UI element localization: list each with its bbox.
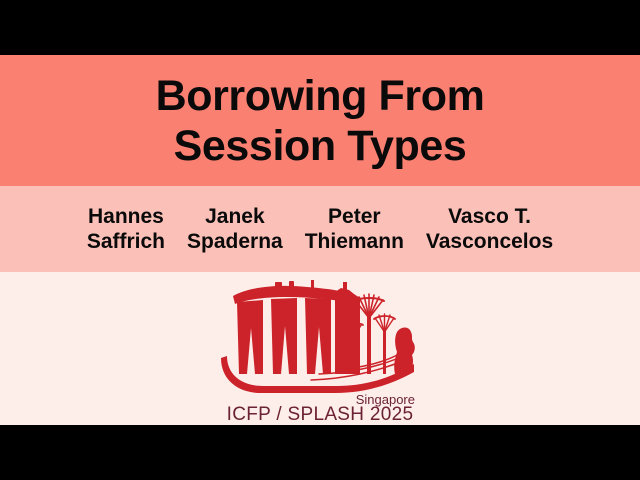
title-card-slide: Borrowing From Session Types Hannes Saff… xyxy=(0,0,640,480)
icfp-splash-singapore-logo-icon: Singapore ICFP / SPLASH 2025 xyxy=(215,278,425,420)
author-4-family-name: Vasconcelos xyxy=(426,229,553,254)
skypark-deck-detail-2 xyxy=(289,281,294,288)
title-band: Borrowing From Session Types xyxy=(0,55,640,186)
letterbox-top xyxy=(0,0,640,55)
mbs-tower-3-icon xyxy=(305,298,331,374)
author-3-given-name: Peter xyxy=(305,204,404,229)
author-2-family-name: Spaderna xyxy=(187,229,283,254)
skypark-mast-icon xyxy=(311,280,314,289)
talk-title-line-1: Borrowing From xyxy=(156,71,485,121)
author-4: Vasco T. Vasconcelos xyxy=(415,204,564,254)
supertree-c-canopy xyxy=(374,314,395,332)
author-2: Janek Spaderna xyxy=(176,204,294,254)
mbs-tower-1-icon xyxy=(237,300,263,374)
author-2-given-name: Janek xyxy=(187,204,283,229)
logo-event-label: ICFP / SPLASH 2025 xyxy=(227,404,414,420)
artscience-antenna-icon xyxy=(343,282,347,290)
talk-title-line-2: Session Types xyxy=(174,121,467,171)
author-3-family-name: Thiemann xyxy=(305,229,404,254)
singapore-skyline-mark xyxy=(221,280,415,393)
author-4-given-name: Vasco T. xyxy=(426,204,553,229)
mbs-tower-2-icon xyxy=(271,298,297,374)
author-1: Hannes Saffrich xyxy=(76,204,176,254)
author-3: Peter Thiemann xyxy=(294,204,415,254)
logo-band: Singapore ICFP / SPLASH 2025 xyxy=(0,272,640,425)
skypark-deck-detail-1 xyxy=(275,282,282,288)
author-1-family-name: Saffrich xyxy=(87,229,165,254)
conference-logo: Singapore ICFP / SPLASH 2025 xyxy=(215,278,425,420)
letterbox-bottom xyxy=(0,425,640,480)
author-1-given-name: Hannes xyxy=(87,204,165,229)
authors-band: Hannes Saffrich Janek Spaderna Peter Thi… xyxy=(0,186,640,272)
